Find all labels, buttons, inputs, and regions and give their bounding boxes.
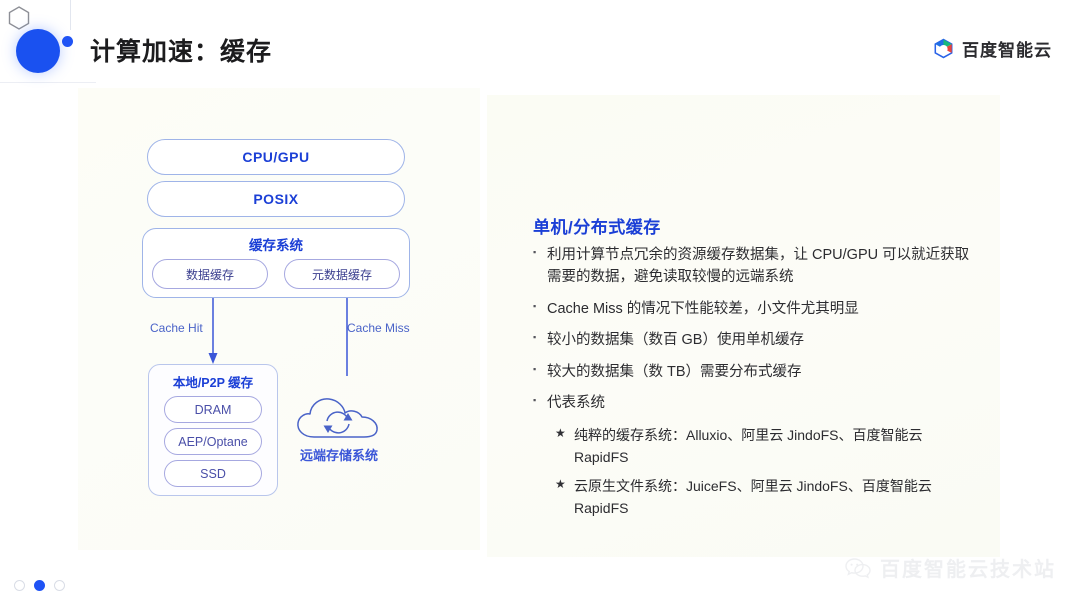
bullet-item: ▪ 较大的数据集（数 TB）需要分布式缓存: [533, 361, 978, 383]
sub-bullet-item: ★ 纯粹的缓存系统：Alluxio、阿里云 JindoFS、百度智能云 Rapi…: [555, 424, 978, 469]
decor-large-blue-circle: [16, 29, 60, 73]
cache-system-children: 数据缓存 元数据缓存: [152, 259, 400, 289]
arrow-label-cache-hit: Cache Hit: [150, 321, 203, 335]
pagination-dot-1[interactable]: [14, 580, 25, 591]
cache-child-metadata-label: 元数据缓存: [312, 266, 372, 283]
decor-small-blue-dot: [62, 36, 73, 47]
watermark-text: 百度智能云技术站: [880, 553, 1056, 582]
diagram-box-local-p2p-cache: 本地/P2P 缓存 DRAM AEP/Optane SSD: [148, 364, 278, 496]
remote-storage-label: 远端存储系统: [285, 445, 393, 464]
bullet-marker: ▪: [533, 298, 547, 315]
wechat-icon: [845, 557, 871, 579]
bullet-text: 代表系统: [547, 392, 978, 414]
sub-bullet-text: 纯粹的缓存系统：Alluxio、阿里云 JindoFS、百度智能云 RapidF…: [574, 424, 978, 469]
cache-system-title: 缓存系统: [249, 234, 303, 254]
baidu-cloud-logo-icon: [933, 38, 954, 59]
bullet-marker: ▪: [533, 244, 547, 261]
decor-vertical-line: [70, 0, 71, 30]
sub-bullet-marker: ★: [555, 424, 574, 443]
local-cache-tier-ssd-label: SSD: [200, 467, 226, 481]
diagram-box-cpu-gpu: CPU/GPU: [147, 139, 405, 175]
bullet-marker: ▪: [533, 392, 547, 409]
local-cache-tier-ssd: SSD: [164, 460, 262, 487]
bullet-item: ▪ Cache Miss 的情况下性能较差，小文件尤其明显: [533, 298, 978, 320]
bullet-marker: ▪: [533, 329, 547, 346]
decor-horizontal-line: [0, 82, 96, 83]
local-cache-tier-dram-label: DRAM: [195, 403, 232, 417]
diagram-box-cpu-gpu-label: CPU/GPU: [242, 149, 309, 165]
sub-bullet-marker: ★: [555, 475, 574, 494]
hexagon-outline-icon: [8, 6, 30, 30]
bullet-text: 利用计算节点冗余的资源缓存数据集，让 CPU/GPU 可以就近获取需要的数据，避…: [547, 244, 978, 289]
brand-logo: 百度智能云: [933, 36, 1052, 61]
bullet-text: Cache Miss 的情况下性能较差，小文件尤其明显: [547, 298, 978, 320]
cache-child-data-label: 数据缓存: [186, 266, 234, 283]
cache-child-data: 数据缓存: [152, 259, 268, 289]
local-cache-tier-aep: AEP/Optane: [164, 428, 262, 455]
bullet-text: 较大的数据集（数 TB）需要分布式缓存: [547, 361, 978, 383]
arrow-label-cache-miss: Cache Miss: [347, 321, 410, 335]
sub-bullet-text: 云原生文件系统：JuiceFS、阿里云 JindoFS、百度智能云 RapidF…: [574, 475, 978, 520]
brand-name: 百度智能云: [962, 36, 1052, 61]
slide-root: 计算加速：缓存 百度智能云 CPU/GPU POSIX 缓存系统 数据缓存 元数…: [0, 0, 1080, 607]
page-title: 计算加速：缓存: [90, 32, 272, 68]
bullet-text: 较小的数据集（数百 GB）使用单机缓存: [547, 329, 978, 351]
cloud-sync-icon: [292, 392, 384, 442]
local-cache-title: 本地/P2P 缓存: [173, 372, 253, 391]
diagram-box-posix-label: POSIX: [253, 191, 298, 207]
diagram-box-posix: POSIX: [147, 181, 405, 217]
bullet-marker: ▪: [533, 361, 547, 378]
local-cache-tier-dram: DRAM: [164, 396, 262, 423]
sub-bullet-item: ★ 云原生文件系统：JuiceFS、阿里云 JindoFS、百度智能云 Rapi…: [555, 475, 978, 520]
watermark: 百度智能云技术站: [845, 553, 1056, 582]
content-bullet-list: ▪ 利用计算节点冗余的资源缓存数据集，让 CPU/GPU 可以就近获取需要的数据…: [533, 244, 978, 525]
local-cache-tier-aep-label: AEP/Optane: [178, 435, 248, 449]
diagram-box-cache-system: 缓存系统 数据缓存 元数据缓存: [142, 228, 410, 298]
bullet-item: ▪ 代表系统: [533, 392, 978, 414]
bullet-item: ▪ 利用计算节点冗余的资源缓存数据集，让 CPU/GPU 可以就近获取需要的数据…: [533, 244, 978, 289]
cache-child-metadata: 元数据缓存: [284, 259, 400, 289]
bullet-item: ▪ 较小的数据集（数百 GB）使用单机缓存: [533, 329, 978, 351]
slide-pagination-dots[interactable]: [14, 580, 65, 591]
pagination-dot-2[interactable]: [34, 580, 45, 591]
content-heading: 单机/分布式缓存: [533, 213, 661, 238]
pagination-dot-3[interactable]: [54, 580, 65, 591]
